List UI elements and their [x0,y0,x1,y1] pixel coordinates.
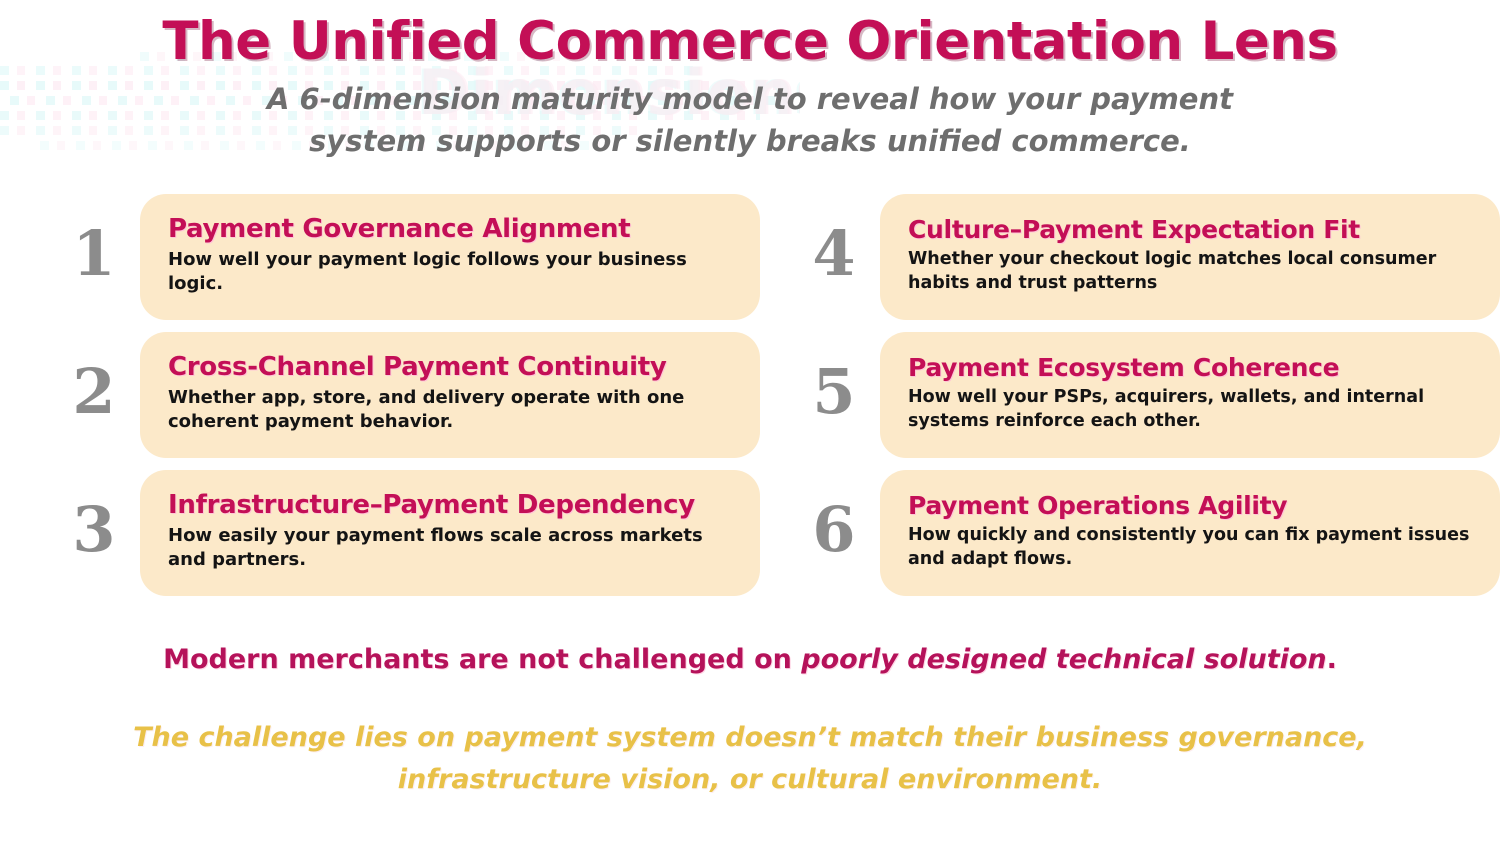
dimension-item-5: 5 Payment Ecosystem Coherence How well y… [788,332,1500,458]
dimension-title: Infrastructure–Payment Dependency [168,491,734,520]
dimension-card: Culture–Payment Expectation Fit Whether … [880,194,1500,320]
dimension-description: How quickly and consistently you can fix… [908,524,1474,571]
dimension-number: 5 [788,361,880,429]
dimension-description: How well your PSPs, acquirers, wallets, … [908,386,1474,433]
footer-statement: Modern merchants are not challenged on p… [0,642,1500,677]
dimension-number: 2 [48,361,140,429]
dimension-item-3: 3 Infrastructure–Payment Dependency How … [48,470,760,596]
dimension-title: Payment Operations Agility [908,492,1474,520]
dimension-item-4: 4 Culture–Payment Expectation Fit Whethe… [788,194,1500,320]
dimension-title: Payment Ecosystem Coherence [908,354,1474,382]
dimension-card: Cross-Channel Payment Continuity Whether… [140,332,760,458]
poster-footer: Modern merchants are not challenged on p… [0,642,1500,801]
dimension-number: 4 [788,223,880,291]
dimension-item-6: 6 Payment Operations Agility How quickly… [788,470,1500,596]
infographic-poster: Dimensions The Unified Commerce Orientat… [0,0,1500,843]
footer-statement-plain: Modern merchants are not challenged on [163,644,801,675]
dimension-card: Payment Operations Agility How quickly a… [880,470,1500,596]
poster-header: The Unified Commerce Orientation Lens A … [0,0,1500,162]
dimension-item-1: 1 Payment Governance Alignment How well … [48,194,760,320]
dimension-title: Cross-Channel Payment Continuity [168,353,734,382]
dimension-number: 6 [788,499,880,567]
footer-statement-emphasis: poorly designed technical solution [801,644,1326,675]
dimension-title: Culture–Payment Expectation Fit [908,216,1474,244]
dimension-description: Whether app, store, and delivery operate… [168,386,734,434]
dimension-grid: 1 Payment Governance Alignment How well … [0,194,1500,596]
dimension-description: How well your payment logic follows your… [168,248,734,296]
dimension-title: Payment Governance Alignment [168,215,734,244]
dimension-card: Infrastructure–Payment Dependency How ea… [140,470,760,596]
dimension-number: 1 [48,223,140,291]
dimension-description: Whether your checkout logic matches loca… [908,248,1474,295]
page-title: The Unified Commerce Orientation Lens [0,12,1500,71]
dimension-card: Payment Ecosystem Coherence How well you… [880,332,1500,458]
dimension-card: Payment Governance Alignment How well yo… [140,194,760,320]
dimension-description: How easily your payment flows scale acro… [168,524,734,572]
page-subtitle: A 6-dimension maturity model to reveal h… [220,79,1280,161]
footer-statement-end: . [1327,644,1337,675]
dimension-number: 3 [48,499,140,567]
dimension-item-2: 2 Cross-Channel Payment Continuity Wheth… [48,332,760,458]
footer-closing-statement: The challenge lies on payment system doe… [85,717,1415,801]
